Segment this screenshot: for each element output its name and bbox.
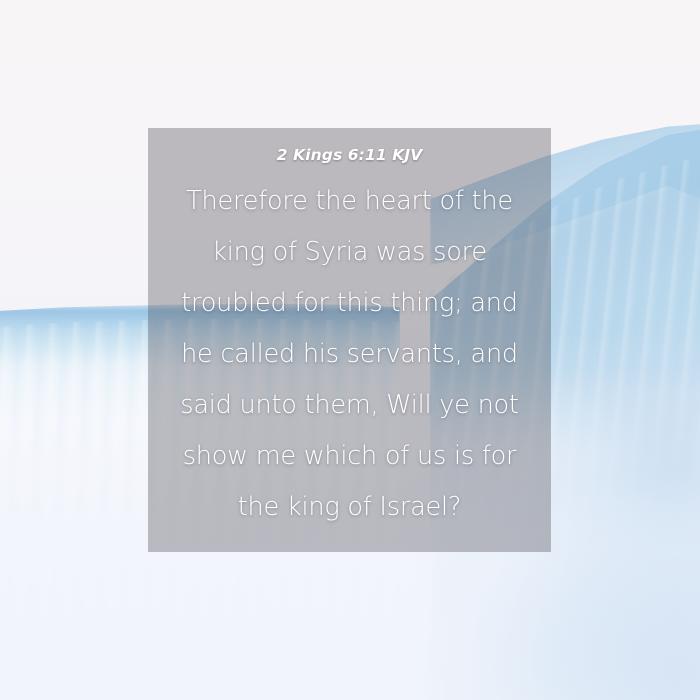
blue-haze-secondary xyxy=(540,350,700,580)
verse-overlay-panel: 2 Kings 6:11 KJV Therefore the heart of … xyxy=(148,128,551,552)
verse-line: Therefore the heart of the xyxy=(164,176,535,227)
verse-line: said unto them, Will ye not xyxy=(164,380,535,431)
verse-text: Therefore the heart of the king of Syria… xyxy=(164,176,535,533)
verse-line: the king of Israel? xyxy=(164,482,535,533)
verse-line: show me which of us is for xyxy=(164,431,535,482)
verse-line: troubled for this thing; and xyxy=(164,278,535,329)
verse-image-scene: 2 Kings 6:11 KJV Therefore the heart of … xyxy=(0,0,700,700)
verse-line: king of Syria was sore xyxy=(164,227,535,278)
verse-line: he called his servants, and xyxy=(164,329,535,380)
verse-reference: 2 Kings 6:11 KJV xyxy=(277,146,423,164)
